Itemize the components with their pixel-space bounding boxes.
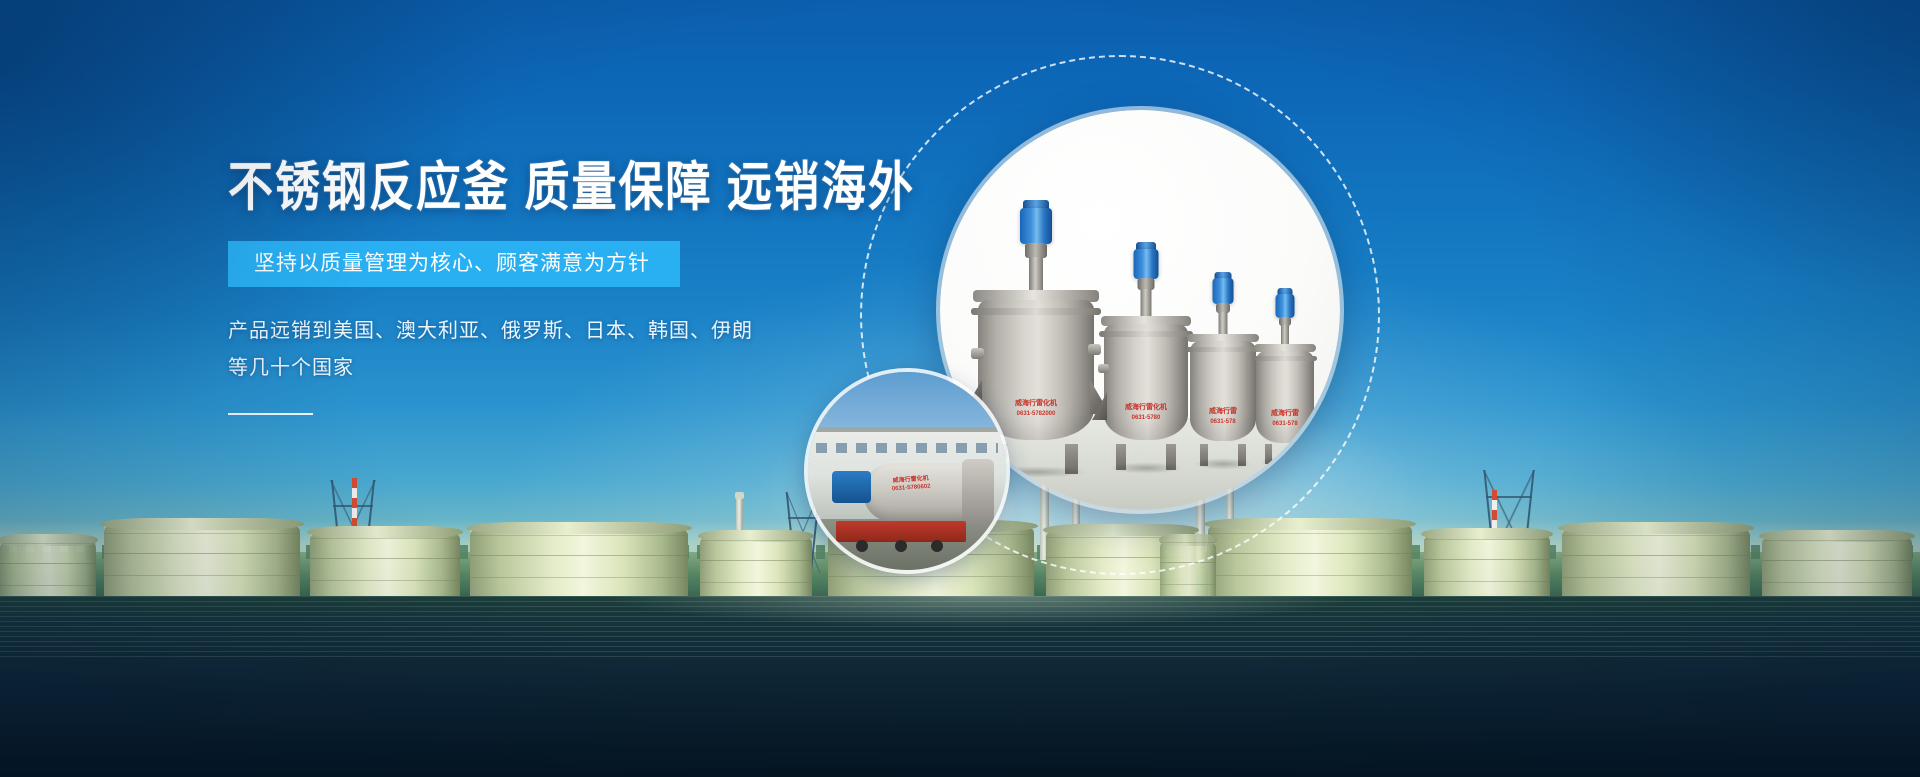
water-reflection <box>0 596 1920 777</box>
subtitle-highlight-bar: 坚持以质量管理为核心、顾客满意为方针 <box>228 241 680 287</box>
banner-subtitle: 坚持以质量管理为核心、顾客满意为方针 <box>254 252 650 275</box>
reactor-label-3: 威海行雷 0631-578 <box>1209 407 1237 426</box>
banner-copy-block: 不锈钢反应釜 质量保障 远销海外 坚持以质量管理为核心、顾客满意为方针 产品远销… <box>228 160 1028 415</box>
hero-banner: 威海行雷化机 0631-5782000 威海行雷化机 0631-5780 <box>0 0 1920 777</box>
banner-body-copy: 产品远销到美国、澳大利亚、俄罗斯、日本、韩国、伊朗 等几十个国家 <box>228 313 1028 387</box>
storage-tank <box>104 524 300 600</box>
storage-tank <box>1424 534 1550 600</box>
banner-headline: 不锈钢反应釜 质量保障 远销海外 <box>228 160 1028 213</box>
storage-tank <box>0 540 96 600</box>
reactor-vessel-4: 威海行雷 0631-578 <box>1256 346 1314 448</box>
storage-tank <box>700 536 812 600</box>
reactor-label-4: 威海行雷 0631-578 <box>1271 409 1299 428</box>
reactor-vessel-2: 威海行雷化机 0631-5780 <box>1104 318 1188 448</box>
storage-tank <box>1562 528 1750 600</box>
reactor-label-2: 威海行雷化机 0631-5780 <box>1125 403 1167 422</box>
storage-tank <box>1762 536 1912 600</box>
body-copy-line-2: 等几十个国家 <box>228 350 1028 387</box>
storage-tank <box>310 532 460 600</box>
storage-tank <box>470 528 688 600</box>
body-copy-line-1: 产品远销到美国、澳大利亚、俄罗斯、日本、韩国、伊朗 <box>228 313 1028 350</box>
factory-vessel-label: 威海行雷化机 0631-5780602 <box>891 476 931 494</box>
reactor-vessel-3: 威海行雷 0631-578 <box>1190 336 1256 448</box>
horizontal-rule-divider <box>228 413 313 415</box>
